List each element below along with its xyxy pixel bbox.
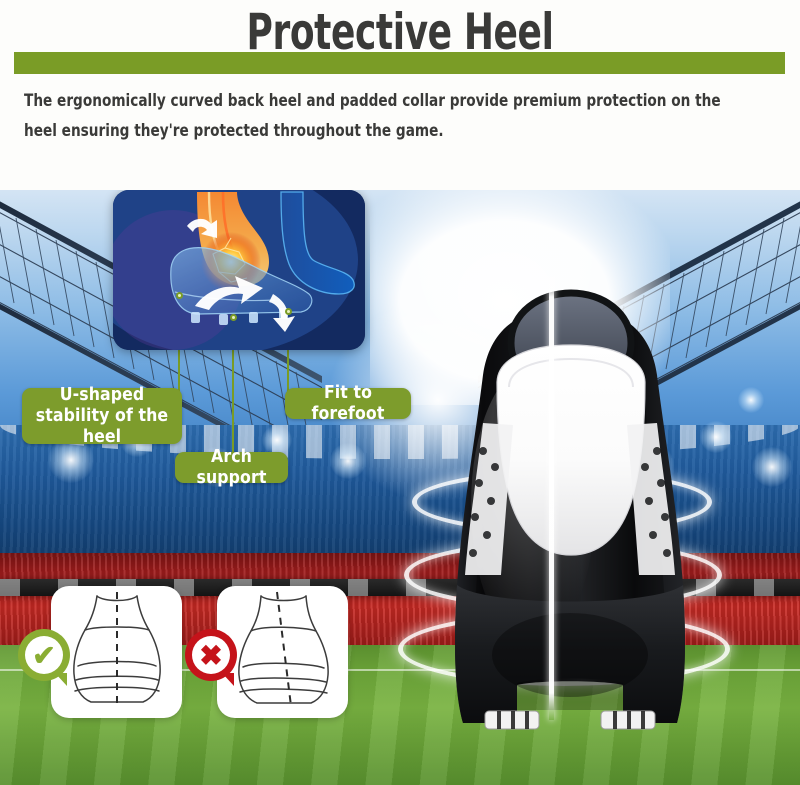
page-description: The ergonomically curved back heel and p… <box>24 86 723 146</box>
callout-fit-to-forefoot[interactable]: Fit to forefoot <box>285 388 411 419</box>
infographic-stage: U-shaped stability of the heel Arch supp… <box>0 0 800 785</box>
cross-icon: ✖ <box>192 636 230 674</box>
callout-label-line2: stability of the heel <box>34 406 170 448</box>
sole-inner-shading <box>492 613 648 697</box>
symmetry-center-line <box>549 270 554 720</box>
callout-label: Arch support <box>187 447 276 489</box>
callout-label-line1: U-shaped <box>60 385 145 406</box>
comparison-card-correct <box>51 586 182 718</box>
check-icon: ✔ <box>25 636 63 674</box>
cleat-illustration-svg <box>405 255 735 745</box>
callout-anchor-forefoot <box>285 308 292 315</box>
ankle-anatomy-xray-illustration <box>113 190 365 350</box>
callout-label: Fit to forefoot <box>297 383 399 425</box>
soccer-cleat-rear-view <box>405 255 735 745</box>
header-area: Protective Heel The ergonomically curved… <box>0 0 800 190</box>
callout-u-shaped-stability[interactable]: U-shaped stability of the heel <box>22 388 182 444</box>
callout-anchor-u-shaped <box>176 292 183 299</box>
floodlight-flare <box>752 447 792 487</box>
correct-heel-alignment-diagram <box>51 586 182 718</box>
callout-anchor-arch <box>230 314 237 321</box>
callout-arch-support[interactable]: Arch support <box>175 452 288 483</box>
correct-badge: ✔ <box>18 629 70 681</box>
floodlight-flare <box>738 387 764 413</box>
cleat-studs <box>485 711 655 729</box>
incorrect-badge: ✖ <box>185 629 237 681</box>
anatomy-svg <box>113 190 365 350</box>
page-title: Protective Heel <box>80 2 720 64</box>
